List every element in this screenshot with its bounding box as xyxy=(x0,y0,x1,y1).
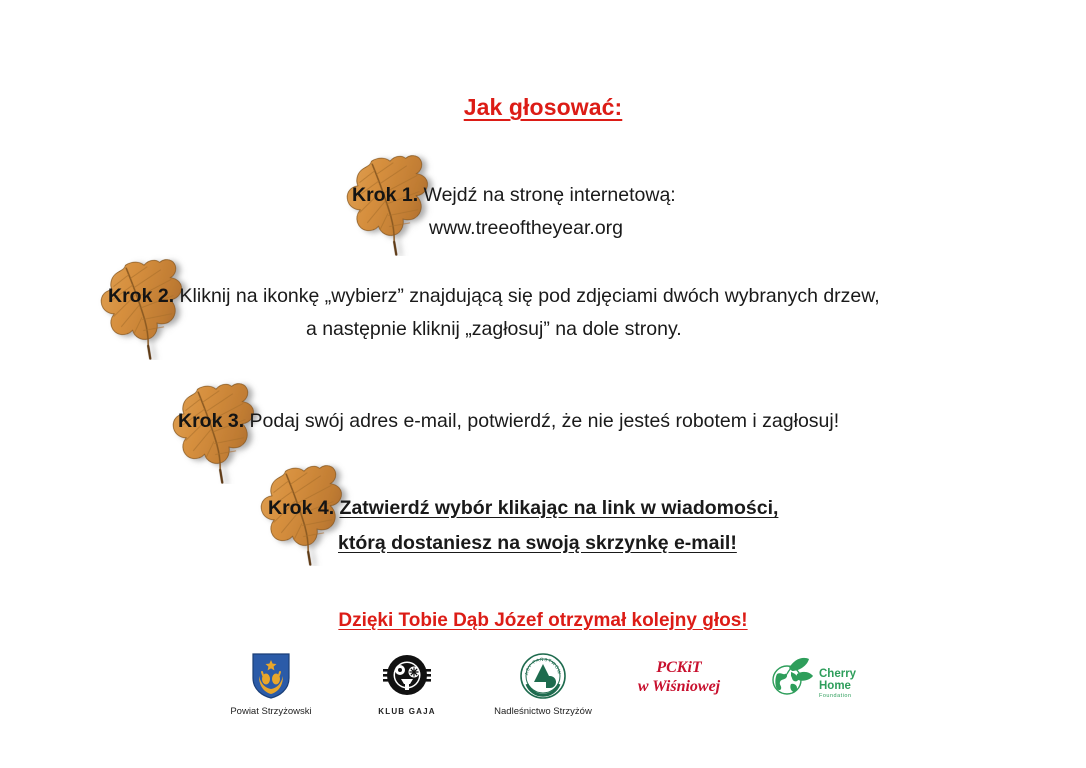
step-1-label: Krok 1. xyxy=(352,184,418,206)
logo-caption-nadlesnictwo: Nadleśnictwo Strzyżów xyxy=(494,706,592,717)
logo-caption-klub-gaja: KLUB GAJA xyxy=(378,706,435,717)
sponsor-logo-row: Powiat Strzyżowski xyxy=(0,650,1086,717)
cherry-line3: Foundation xyxy=(819,693,852,699)
step-2-text: Krok 2. Kliknij na ikonkę „wybierz” znaj… xyxy=(108,280,880,346)
step-4-text: Krok 4. Zatwierdź wybór klikając na link… xyxy=(268,491,778,561)
logo-cherry-home-foundation: Cherry Home Foundation xyxy=(761,650,869,706)
step-4-line2: którą dostaniesz na swoją skrzynkę e-mai… xyxy=(268,526,778,561)
pckit-line1: PCKiT xyxy=(655,659,703,676)
thanks-message: Dzięki Tobie Dąb Józef otrzymał kolejny … xyxy=(0,610,1086,632)
step-3-text: Krok 3. Podaj swój adres e-mail, potwier… xyxy=(178,405,839,438)
cherry-home-foundation-logo-icon: Cherry Home Foundation xyxy=(767,650,863,702)
step-2-line2: a następnie kliknij „zagłosuj” na dole s… xyxy=(108,313,880,346)
logo-powiat-strzyzowski: Powiat Strzyżowski xyxy=(217,650,325,717)
logo-klub-gaja: KLUB GAJA xyxy=(353,650,461,717)
step-4-line1: Zatwierdź wybór klikając na link w wiado… xyxy=(340,497,779,519)
step-1-line2: www.treeoftheyear.org xyxy=(352,212,676,245)
step-1-text: Krok 1. Wejdź na stronę internetową: www… xyxy=(352,179,676,245)
logo-pckit-wisniowa: PCKiT w Wiśniowej xyxy=(625,650,733,706)
pckit-wisniowa-wordmark-icon: PCKiT w Wiśniowej xyxy=(631,650,727,702)
step-2-label: Krok 2. xyxy=(108,285,174,307)
cherry-line1: Cherry xyxy=(819,668,857,680)
step-2-line1: Kliknij na ikonkę „wybierz” znajdującą s… xyxy=(180,285,880,307)
step-3-label: Krok 3. xyxy=(178,410,244,432)
step-4-label: Krok 4. xyxy=(268,497,334,519)
klub-gaja-emblem-icon xyxy=(382,650,432,702)
pckit-line2: w Wiśniowej xyxy=(638,678,721,695)
cherry-line2: Home xyxy=(819,680,851,692)
poster-page: Jak głosować: xyxy=(0,0,1086,768)
lasy-panstwowe-emblem-icon: LASY PAŃSTWOWE xyxy=(519,650,567,702)
step-3-line1: Podaj swój adres e-mail, potwierdź, że n… xyxy=(250,410,840,432)
logo-caption-powiat: Powiat Strzyżowski xyxy=(230,706,311,717)
logo-nadlesnictwo-strzyzow: LASY PAŃSTWOWE Nadleśnictwo Strzyżów xyxy=(489,650,597,717)
powiat-strzyzowski-coat-of-arms-icon xyxy=(251,650,291,702)
step-1-line1: Wejdź na stronę internetową: xyxy=(424,184,676,206)
page-title: Jak głosować: xyxy=(0,94,1086,121)
